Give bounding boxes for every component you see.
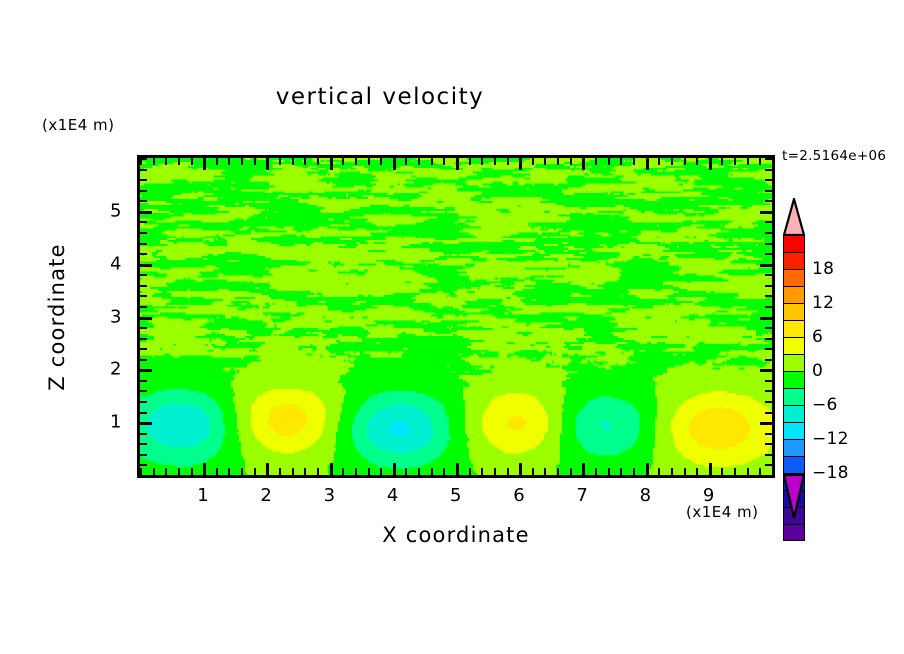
z-tick-left: [140, 348, 147, 350]
colorbar-segment: [783, 337, 805, 354]
z-tick-right: [765, 158, 772, 160]
z-tick-left: [140, 422, 152, 425]
x-tick-bottom: [203, 463, 206, 475]
z-tick-left: [140, 464, 147, 466]
x-tick-bottom: [431, 468, 433, 475]
colorbar-segment: [783, 303, 805, 320]
x-tick-top: [608, 158, 610, 165]
z-tick-right: [765, 253, 772, 255]
x-tick-top: [709, 158, 712, 170]
z-tick-right: [760, 369, 772, 372]
colorbar-segment: [783, 320, 805, 337]
colorbar-tick-label: −18: [812, 463, 849, 483]
z-tick-right: [765, 243, 772, 245]
z-tick-left: [140, 433, 147, 435]
x-tick-label: 2: [260, 485, 272, 506]
x-tick-label: 1: [197, 485, 209, 506]
x-tick-top: [203, 158, 206, 170]
z-tick-left: [140, 380, 147, 382]
plot-area: [137, 155, 775, 478]
z-tick-right: [760, 264, 772, 267]
x-tick-label: 8: [640, 485, 652, 506]
colorbar-segment: [783, 524, 805, 541]
colorbar-tick-label: 12: [812, 293, 834, 313]
x-tick-bottom: [671, 468, 673, 475]
x-tick-bottom: [266, 463, 269, 475]
colorbar-tick-label: 0: [812, 361, 823, 381]
z-tick-left: [140, 285, 147, 287]
x-axis-unit-label: (x1E4 m): [686, 503, 759, 521]
x-tick-bottom: [608, 468, 610, 475]
z-tick-right: [765, 295, 772, 297]
z-tick-label: 1: [110, 412, 122, 433]
x-tick-bottom: [595, 468, 597, 475]
z-tick-right: [765, 348, 772, 350]
z-tick-right: [765, 359, 772, 361]
x-tick-top: [595, 158, 597, 165]
colorbar-tick-label: 18: [812, 259, 834, 279]
x-tick-label: 5: [450, 485, 462, 506]
colorbar-segment: [783, 439, 805, 456]
x-tick-bottom: [342, 468, 344, 475]
z-tick-left: [140, 412, 147, 414]
z-tick-right: [765, 412, 772, 414]
x-tick-top: [228, 158, 230, 165]
z-tick-right: [760, 422, 772, 425]
figure: vertical velocity (x1E4 m) t=2.5164e+06 …: [0, 0, 904, 654]
x-tick-top: [355, 158, 357, 165]
z-tick-right: [765, 454, 772, 456]
x-tick-top: [721, 158, 723, 165]
x-tick-top: [292, 158, 294, 165]
colorbar-segment: [783, 269, 805, 286]
colorbar-segment: [783, 388, 805, 405]
x-tick-top: [507, 158, 509, 165]
z-tick-left: [140, 369, 152, 372]
x-tick-bottom: [178, 468, 180, 475]
x-tick-top: [658, 158, 660, 165]
x-tick-top: [494, 158, 496, 165]
x-tick-top: [456, 158, 459, 170]
x-tick-bottom: [709, 463, 712, 475]
x-tick-bottom: [418, 468, 420, 475]
x-tick-top: [279, 158, 281, 165]
x-tick-bottom: [684, 468, 686, 475]
x-tick-top: [646, 158, 649, 170]
x-tick-bottom: [494, 468, 496, 475]
z-tick-left: [140, 317, 152, 320]
z-tick-right: [765, 390, 772, 392]
x-tick-bottom: [443, 468, 445, 475]
colorbar-tick-label: 6: [812, 327, 823, 347]
z-tick-left: [140, 475, 147, 477]
z-tick-left: [140, 443, 147, 445]
x-tick-bottom: [721, 468, 723, 475]
x-tick-top: [254, 158, 256, 165]
z-tick-left: [140, 390, 147, 392]
x-tick-bottom: [279, 468, 281, 475]
timestamp-annotation: t=2.5164e+06: [782, 148, 886, 164]
colorbar-segment: [783, 235, 805, 252]
x-tick-label: 7: [576, 485, 588, 506]
z-tick-left: [140, 338, 147, 340]
z-tick-right: [765, 475, 772, 477]
x-tick-bottom: [140, 468, 142, 475]
z-tick-right: [765, 401, 772, 403]
z-tick-right: [765, 169, 772, 171]
x-tick-bottom: [734, 468, 736, 475]
z-tick-right: [765, 338, 772, 340]
x-tick-bottom: [570, 468, 572, 475]
x-tick-bottom: [241, 468, 243, 475]
x-tick-label: 3: [324, 485, 336, 506]
x-tick-top: [519, 158, 522, 170]
x-tick-bottom: [646, 463, 649, 475]
z-tick-label: 4: [110, 253, 122, 274]
y-axis-title: Z coordinate: [45, 217, 69, 417]
x-tick-bottom: [469, 468, 471, 475]
z-tick-right: [765, 327, 772, 329]
colorbar-segment: [783, 422, 805, 439]
colorbar-segment: [783, 286, 805, 303]
z-tick-right: [765, 200, 772, 202]
x-tick-top: [153, 158, 155, 165]
x-tick-label: 4: [387, 485, 399, 506]
x-tick-bottom: [507, 468, 509, 475]
x-tick-bottom: [153, 468, 155, 475]
z-tick-right: [765, 232, 772, 234]
z-tick-left: [140, 264, 152, 267]
x-tick-top: [431, 158, 433, 165]
x-tick-bottom: [304, 468, 306, 475]
colorbar-tick-label: −6: [812, 395, 838, 415]
z-tick-left: [140, 274, 147, 276]
z-tick-right: [765, 179, 772, 181]
z-tick-right: [765, 274, 772, 276]
z-tick-left: [140, 454, 147, 456]
x-tick-bottom: [292, 468, 294, 475]
z-tick-label: 3: [110, 306, 122, 327]
z-tick-left: [140, 169, 147, 171]
x-tick-top: [165, 158, 167, 165]
contour-canvas: [140, 158, 772, 475]
x-tick-top: [747, 158, 749, 165]
z-tick-left: [140, 359, 147, 361]
z-tick-right: [765, 306, 772, 308]
z-tick-left: [140, 253, 147, 255]
x-tick-top: [178, 158, 180, 165]
x-tick-bottom: [216, 468, 218, 475]
x-tick-top: [532, 158, 534, 165]
x-tick-top: [671, 158, 673, 165]
z-tick-left: [140, 221, 147, 223]
x-tick-bottom: [772, 468, 774, 475]
x-tick-top: [418, 158, 420, 165]
colorbar-segment: [783, 371, 805, 388]
x-tick-bottom: [544, 468, 546, 475]
z-tick-right: [765, 443, 772, 445]
x-tick-bottom: [658, 468, 660, 475]
z-tick-label: 2: [110, 359, 122, 380]
x-tick-bottom: [532, 468, 534, 475]
colorbar-under-arrow: [783, 474, 805, 519]
colorbar-over-arrow: [783, 198, 805, 236]
x-tick-bottom: [317, 468, 319, 475]
z-tick-right: [765, 464, 772, 466]
z-tick-right: [760, 317, 772, 320]
x-tick-top: [330, 158, 333, 170]
x-tick-bottom: [582, 463, 585, 475]
colorbar-segment: [783, 405, 805, 422]
x-tick-top: [443, 158, 445, 165]
x-tick-top: [772, 158, 774, 165]
z-tick-left: [140, 295, 147, 297]
x-tick-top: [216, 158, 218, 165]
x-tick-bottom: [393, 463, 396, 475]
x-tick-bottom: [330, 463, 333, 475]
x-tick-top: [544, 158, 546, 165]
x-tick-top: [380, 158, 382, 165]
x-tick-bottom: [557, 468, 559, 475]
x-tick-bottom: [228, 468, 230, 475]
z-tick-left: [140, 232, 147, 234]
z-tick-left: [140, 327, 147, 329]
x-tick-top: [582, 158, 585, 170]
x-tick-top: [557, 158, 559, 165]
x-tick-top: [241, 158, 243, 165]
x-tick-label: 6: [513, 485, 525, 506]
x-tick-bottom: [759, 468, 761, 475]
x-tick-bottom: [254, 468, 256, 475]
x-tick-top: [266, 158, 269, 170]
z-tick-left: [140, 179, 147, 181]
z-tick-right: [760, 211, 772, 214]
z-tick-left: [140, 306, 147, 308]
x-tick-top: [393, 158, 396, 170]
colorbar-segment: [783, 456, 805, 473]
x-tick-top: [368, 158, 370, 165]
x-tick-bottom: [456, 463, 459, 475]
x-tick-top: [734, 158, 736, 165]
z-tick-right: [765, 433, 772, 435]
z-tick-left: [140, 200, 147, 202]
x-tick-top: [481, 158, 483, 165]
x-tick-top: [696, 158, 698, 165]
x-tick-bottom: [368, 468, 370, 475]
z-tick-left: [140, 243, 147, 245]
z-tick-right: [765, 285, 772, 287]
x-tick-top: [191, 158, 193, 165]
z-tick-right: [765, 190, 772, 192]
x-tick-bottom: [380, 468, 382, 475]
z-tick-right: [765, 380, 772, 382]
x-tick-bottom: [165, 468, 167, 475]
x-tick-bottom: [620, 468, 622, 475]
x-tick-top: [570, 158, 572, 165]
x-tick-bottom: [191, 468, 193, 475]
colorbar-tick-label: −12: [812, 429, 849, 449]
z-tick-left: [140, 401, 147, 403]
x-axis-title: X coordinate: [137, 523, 775, 547]
x-tick-bottom: [633, 468, 635, 475]
x-tick-bottom: [355, 468, 357, 475]
y-tick-labels: 12345: [92, 0, 122, 654]
x-tick-bottom: [519, 463, 522, 475]
x-tick-bottom: [481, 468, 483, 475]
colorbar-segment: [783, 252, 805, 269]
x-tick-top: [405, 158, 407, 165]
x-tick-top: [684, 158, 686, 165]
x-tick-top: [304, 158, 306, 165]
z-tick-left: [140, 211, 152, 214]
x-tick-top: [633, 158, 635, 165]
z-tick-left: [140, 158, 147, 160]
contour-field: [140, 158, 772, 475]
x-tick-bottom: [405, 468, 407, 475]
z-tick-left: [140, 190, 147, 192]
x-tick-top: [342, 158, 344, 165]
colorbar-segment: [783, 354, 805, 371]
x-tick-bottom: [747, 468, 749, 475]
x-tick-bottom: [696, 468, 698, 475]
z-tick-right: [765, 221, 772, 223]
x-tick-top: [469, 158, 471, 165]
x-tick-top: [759, 158, 761, 165]
x-tick-top: [317, 158, 319, 165]
x-tick-top: [620, 158, 622, 165]
z-tick-label: 5: [110, 200, 122, 221]
